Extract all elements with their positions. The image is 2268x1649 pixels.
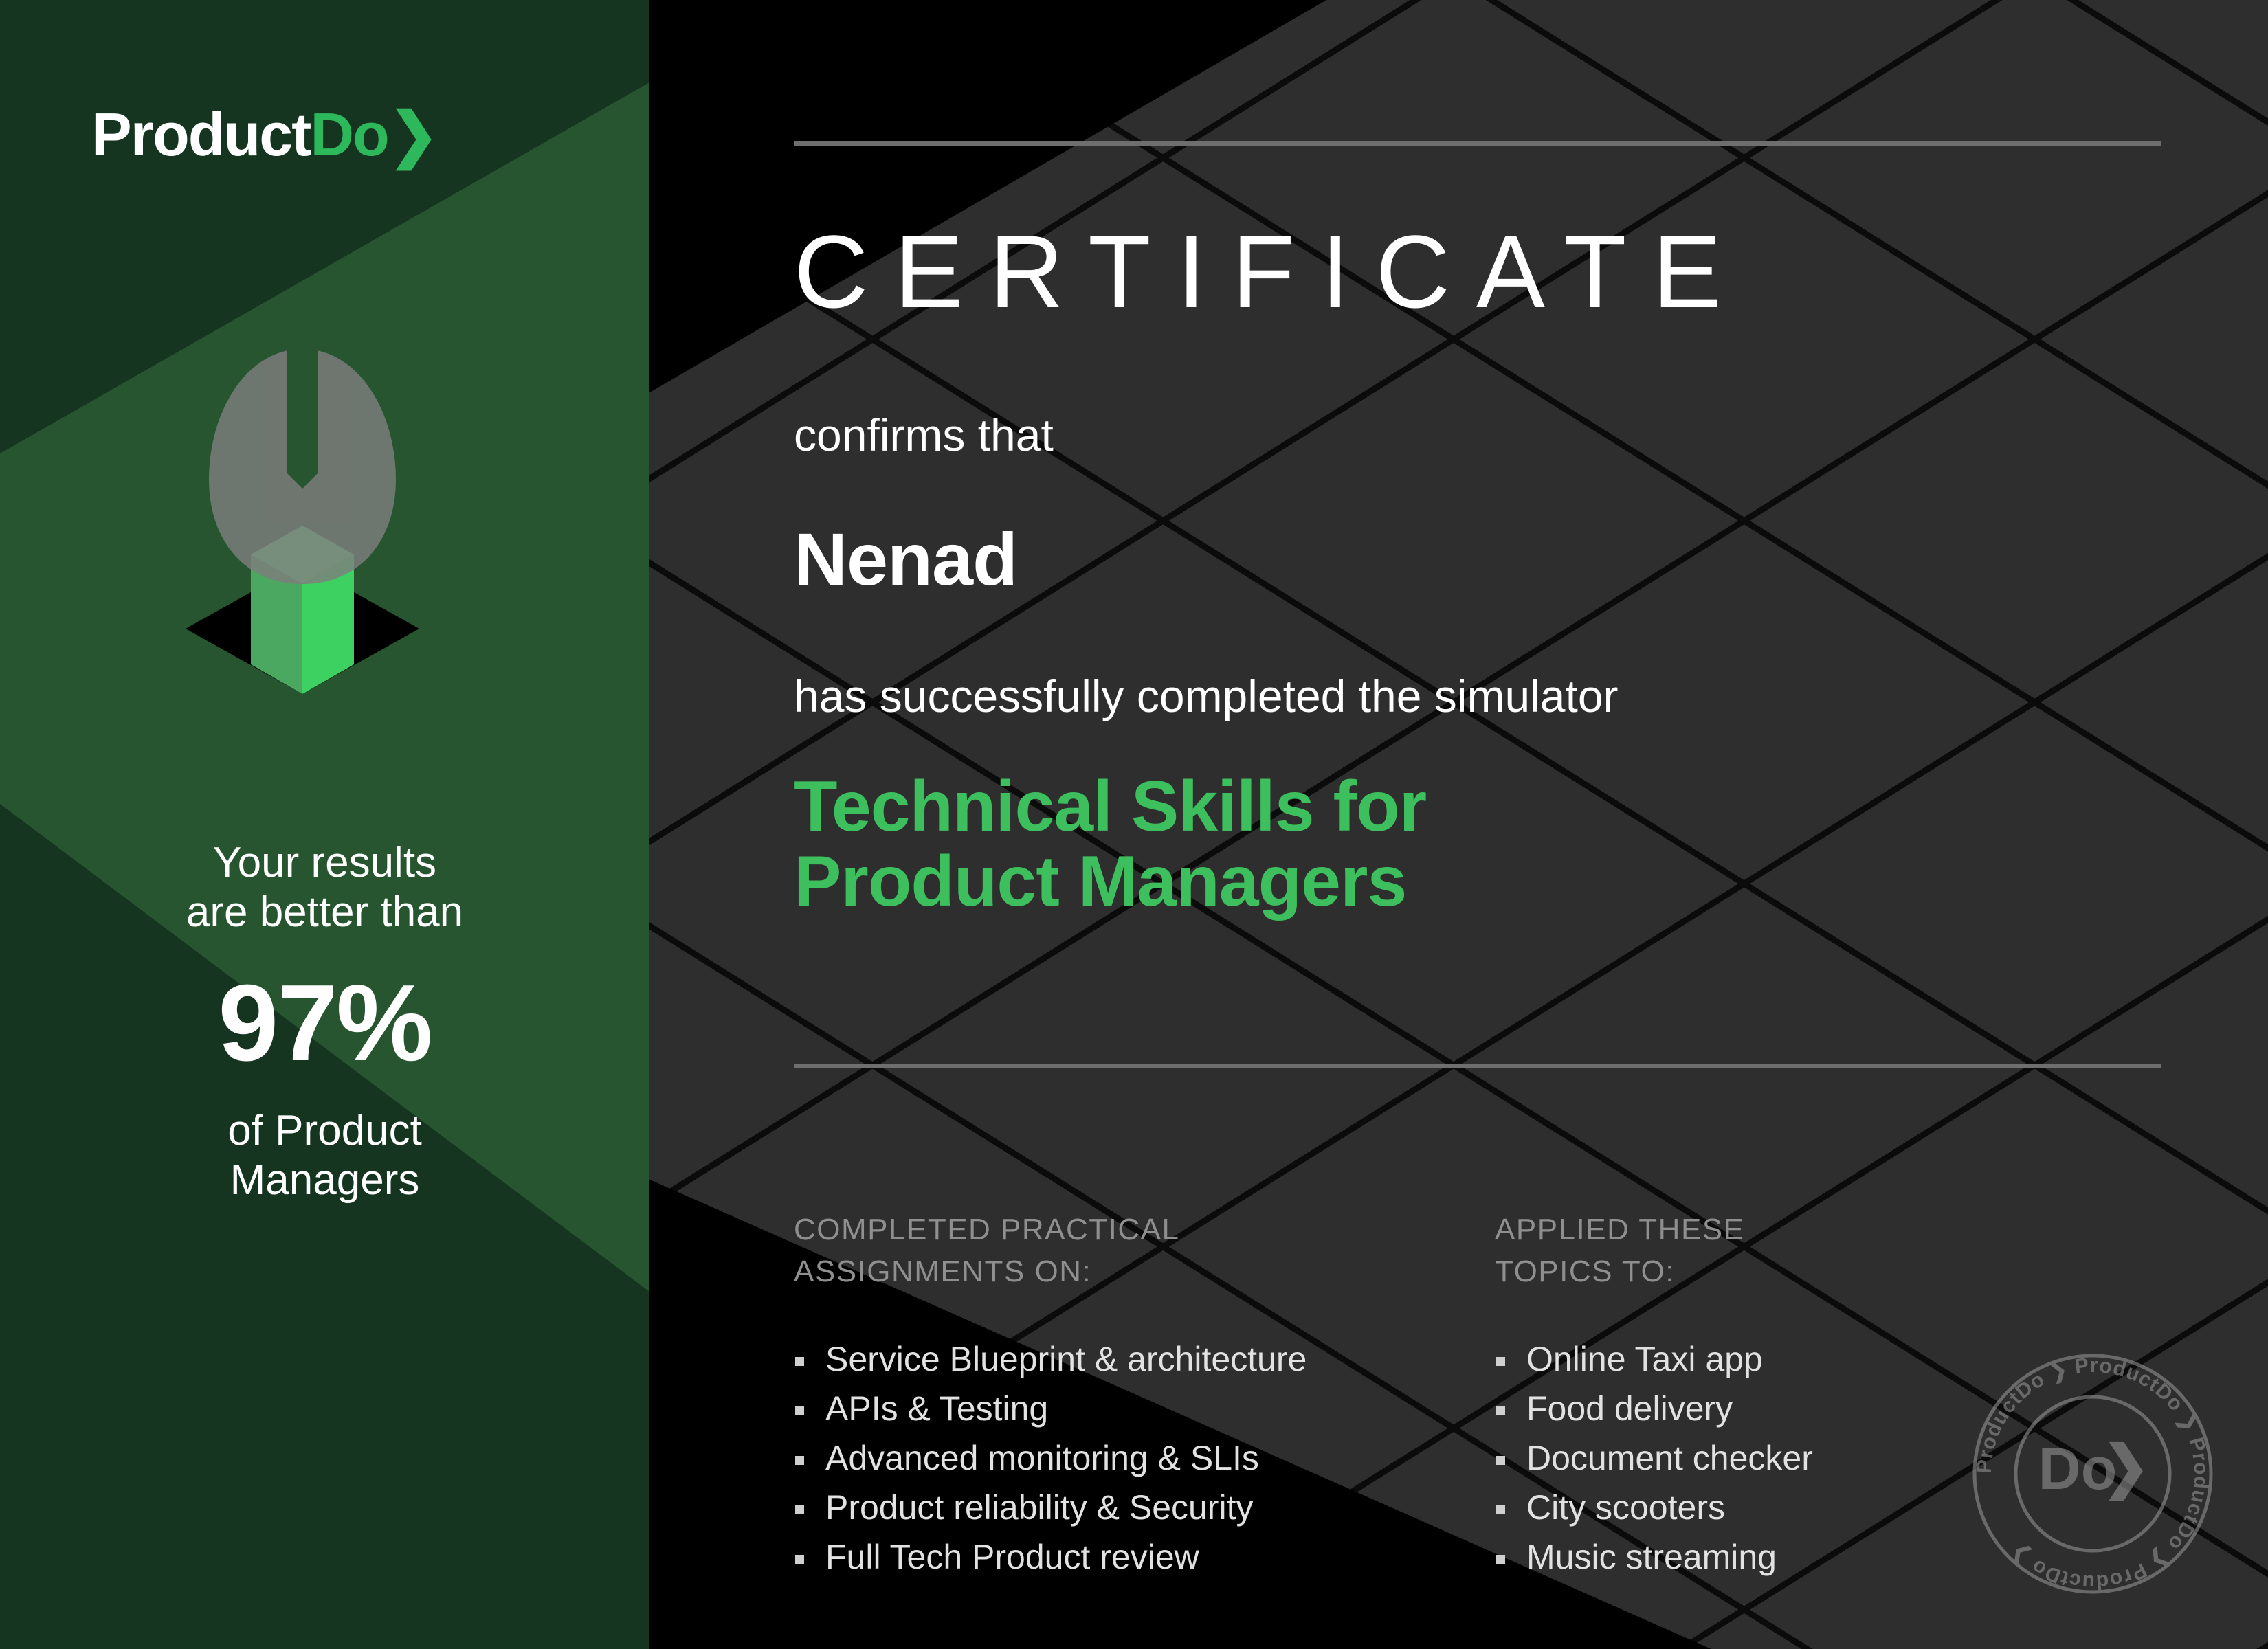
- results-line-2: are better than: [0, 888, 649, 937]
- certificate-canvas: ProductDo❯ Your results are: [0, 0, 2268, 1649]
- chevron-right-icon: ❯: [388, 100, 438, 168]
- logo-word-do: Do: [310, 100, 388, 168]
- confirms-text: confirms that: [794, 412, 1054, 458]
- list-item: Advanced monitoring & SLIs: [794, 1441, 1495, 1475]
- results-sub-1: of Product: [0, 1106, 649, 1156]
- assignments-list: Service Blueprint & architecture APIs & …: [794, 1342, 1495, 1574]
- recipient-name: Nenad: [794, 522, 1017, 596]
- productdo-logo[interactable]: ProductDo❯: [91, 104, 438, 165]
- divider-middle: [794, 1064, 2161, 1068]
- simulator-title-line-2: Product Managers: [794, 842, 1406, 921]
- list-item: Service Blueprint & architecture: [794, 1342, 1495, 1376]
- column-assignments-heading: COMPLETED PRACTICAL ASSIGNMENTS ON:: [794, 1209, 1495, 1292]
- isometric-wrench-emblem: [124, 337, 481, 694]
- results-line-1: Your results: [0, 838, 649, 888]
- completion-text: has successfully completed the simulator: [794, 673, 1619, 719]
- simulator-title-line-1: Technical Skills for: [794, 767, 1426, 846]
- productdo-seal-stamp: ProductDo ❯ ProductDo ❯ ProductDo ❯ Prod…: [1955, 1336, 2230, 1611]
- column-assignments: COMPLETED PRACTICAL ASSIGNMENTS ON: Serv…: [794, 1209, 1495, 1589]
- column-topics-heading: APPLIED THESE TOPICS TO:: [1495, 1209, 2196, 1292]
- list-item: APIs & Testing: [794, 1391, 1495, 1426]
- green-sidebar-panel: [0, 0, 649, 1649]
- list-item: Full Tech Product review: [794, 1540, 1495, 1574]
- seal-svg: ProductDo ❯ ProductDo ❯ ProductDo ❯ Prod…: [1955, 1336, 2230, 1611]
- list-item: Product reliability & Security: [794, 1490, 1495, 1525]
- seal-center-chevron-icon: ❯: [2102, 1434, 2150, 1501]
- jaw-notch-shade: [302, 341, 318, 489]
- seal-center-mark: Do ❯: [2038, 1434, 2150, 1502]
- wrench-emblem-svg: [124, 337, 481, 694]
- logo-word-product: Product: [91, 100, 310, 168]
- divider-top: [794, 141, 2161, 146]
- results-percent: 97%: [0, 969, 649, 1077]
- page-title: CERTIFICATE: [794, 220, 1748, 323]
- results-block: Your results are better than 97% of Prod…: [0, 838, 649, 1205]
- simulator-title: Technical Skills forProduct Managers: [794, 770, 1825, 919]
- results-sub-2: Managers: [0, 1156, 649, 1205]
